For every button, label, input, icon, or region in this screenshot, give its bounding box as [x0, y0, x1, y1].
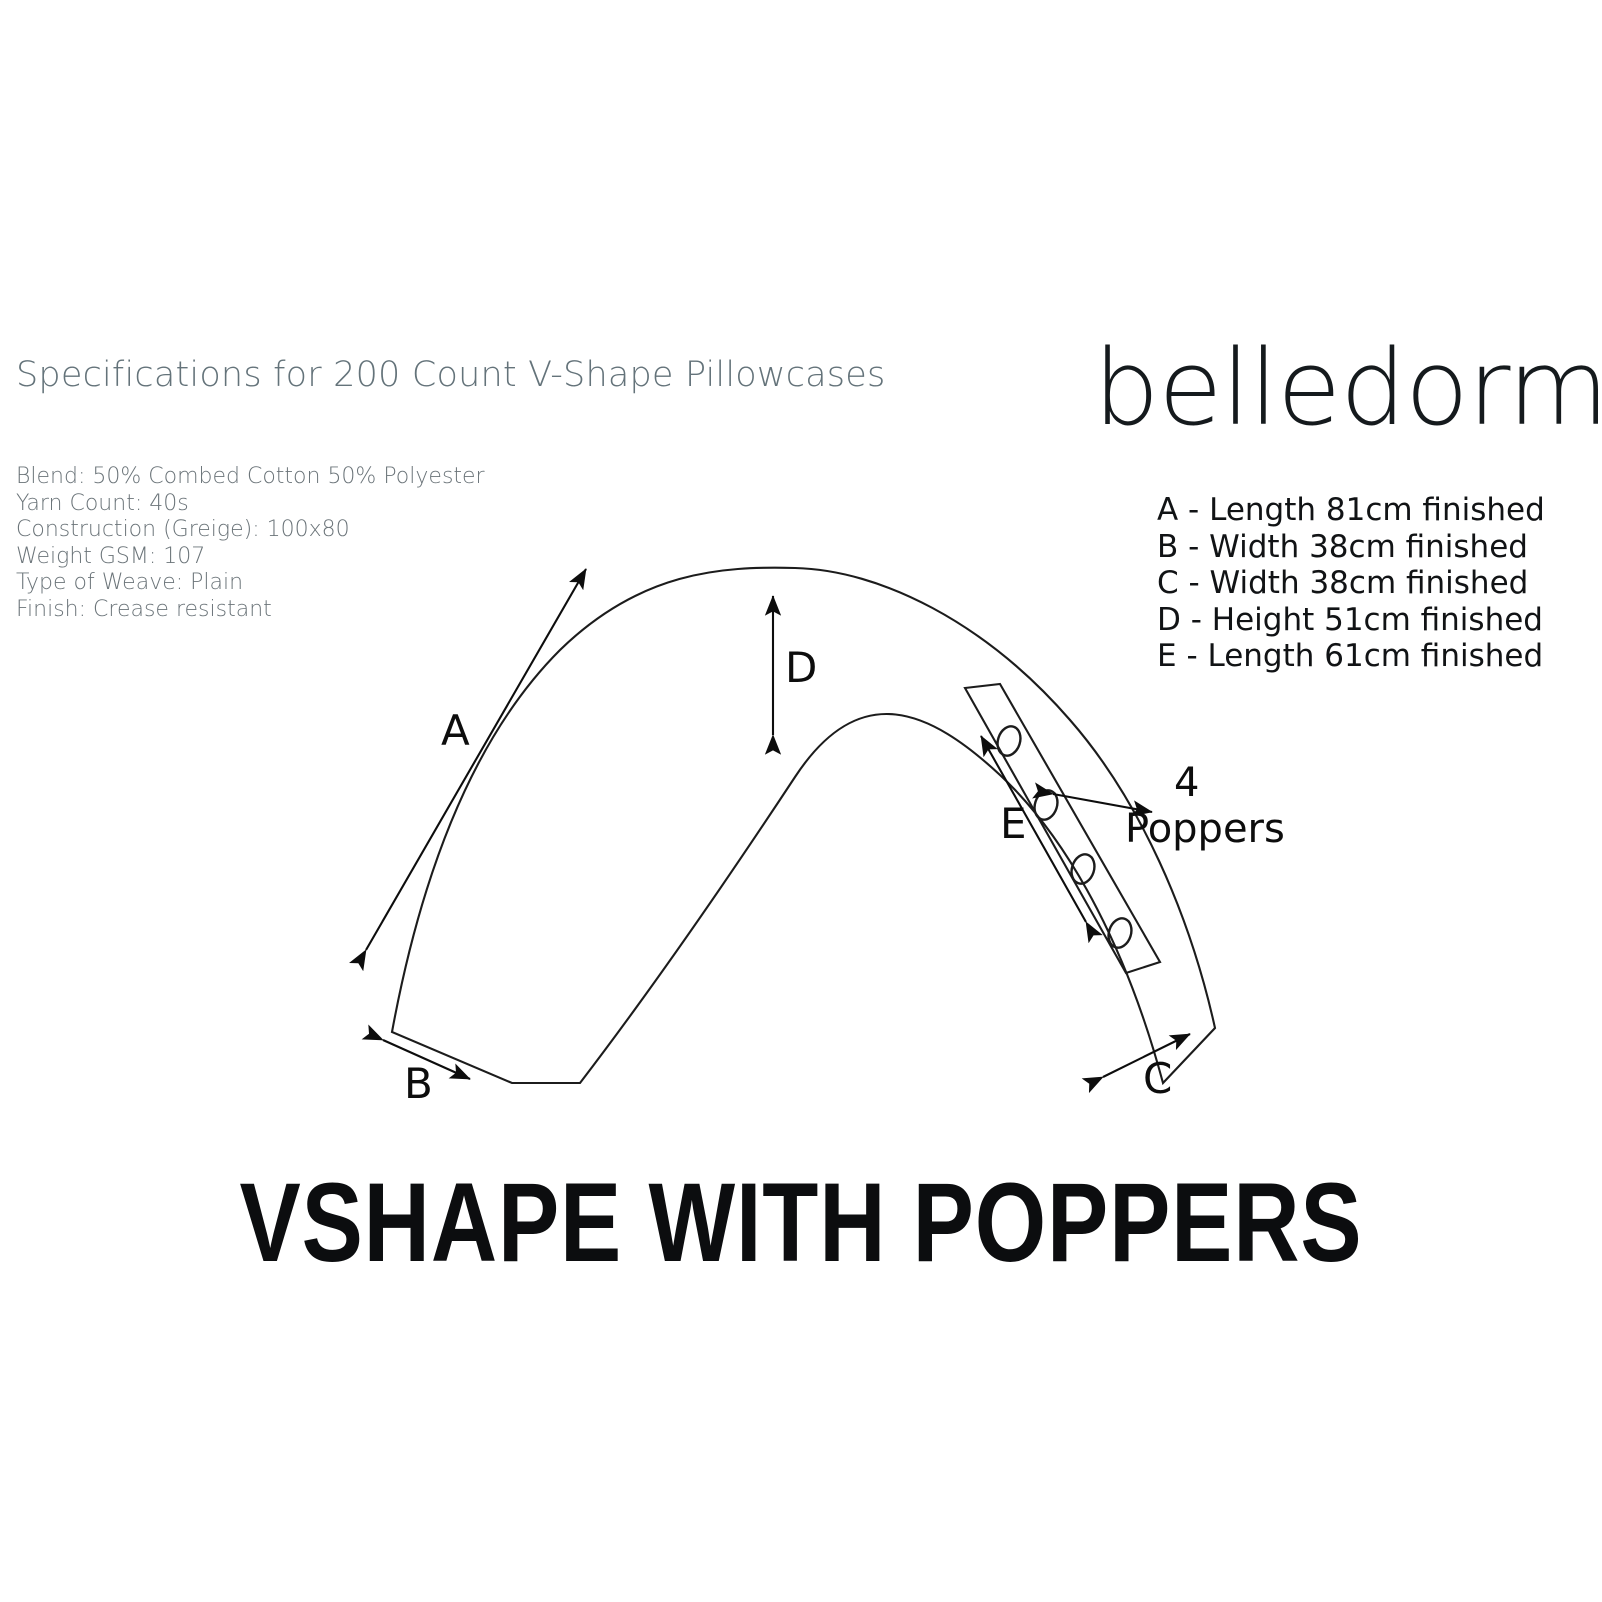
dimension-label-a: A: [441, 706, 470, 755]
specification-sheet: Specifications for 200 Count V-Shape Pil…: [0, 0, 1602, 1602]
dimension-e: E: [981, 736, 1086, 922]
product-title: VSHAPE WITH POPPERS: [144, 1158, 1458, 1287]
popper-word-label: Poppers: [1125, 806, 1285, 852]
popper-1: [994, 723, 1024, 758]
dimension-label-e: E: [1000, 799, 1027, 848]
dimension-a: A: [366, 569, 586, 950]
popper-2: [1031, 787, 1061, 822]
vshape-pillowcase-drawing: A B C D E 4 Poppers: [0, 0, 1602, 1602]
dimension-b: B: [383, 1040, 470, 1108]
dimension-label-b: B: [404, 1059, 433, 1108]
dimension-d: D: [773, 596, 817, 735]
dimension-label-d: D: [785, 643, 817, 692]
dimension-label-c: C: [1143, 1054, 1172, 1103]
popper-count-label: 4: [1174, 760, 1199, 806]
